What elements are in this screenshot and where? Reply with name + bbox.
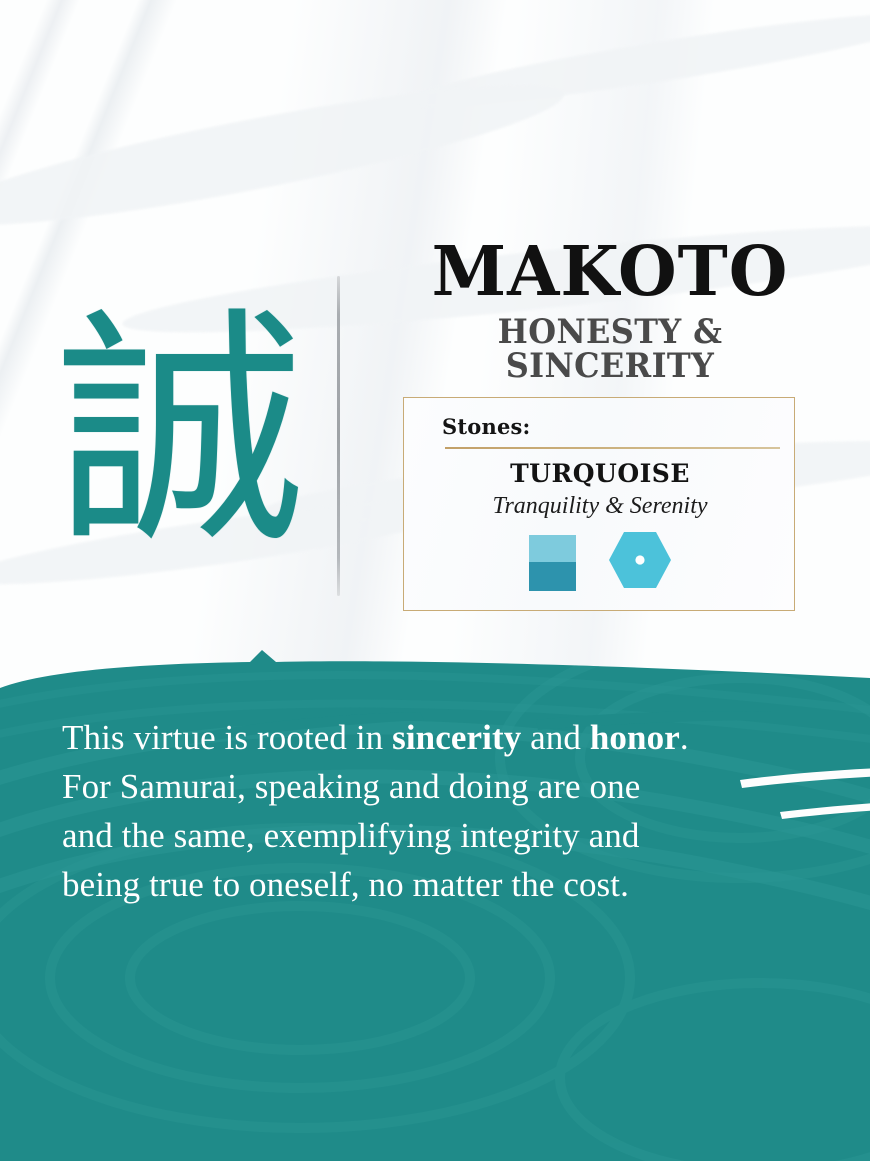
stones-divider-rule	[445, 447, 780, 449]
brush-texture-sweep	[0, 60, 571, 251]
stones-panel: Stones: TURQUOISE Tranquility & Serenity	[403, 397, 795, 611]
desc-l1-a: This virtue is rooted in	[62, 718, 392, 757]
virtue-card: 誠 MAKOTO HONESTY & SINCERITY Stones: TUR…	[0, 0, 870, 1161]
stone-swatch-square-icon	[529, 535, 576, 591]
page-title: MAKOTO	[377, 240, 842, 305]
desc-emphasis-honor: honor	[590, 718, 680, 757]
description-line-3: and the same, exemplifying integrity and	[62, 811, 782, 860]
vertical-divider	[337, 276, 340, 596]
desc-l1-e: .	[680, 718, 689, 757]
description-line-2: For Samurai, speaking and doing are one	[62, 762, 782, 811]
title-block: MAKOTO HONESTY & SINCERITY	[375, 240, 845, 383]
desc-l1-c: and	[521, 718, 590, 757]
description-line-1: This virtue is rooted in sincerity and h…	[62, 713, 782, 762]
page-subtitle: HONESTY & SINCERITY	[389, 315, 831, 383]
stone-meaning: Tranquility & Serenity	[404, 493, 796, 520]
kanji-character: 誠	[36, 282, 326, 582]
brush-texture-sweep	[400, 0, 870, 122]
stone-hexagon-gem-icon	[608, 531, 672, 594]
description-line-4: being true to oneself, no matter the cos…	[62, 860, 782, 909]
stones-label: Stones:	[442, 414, 530, 439]
stone-name: TURQUOISE	[404, 459, 796, 488]
desc-emphasis-sincerity: sincerity	[392, 718, 521, 757]
stone-icon-row	[404, 531, 796, 594]
description-text: This virtue is rooted in sincerity and h…	[62, 713, 782, 909]
